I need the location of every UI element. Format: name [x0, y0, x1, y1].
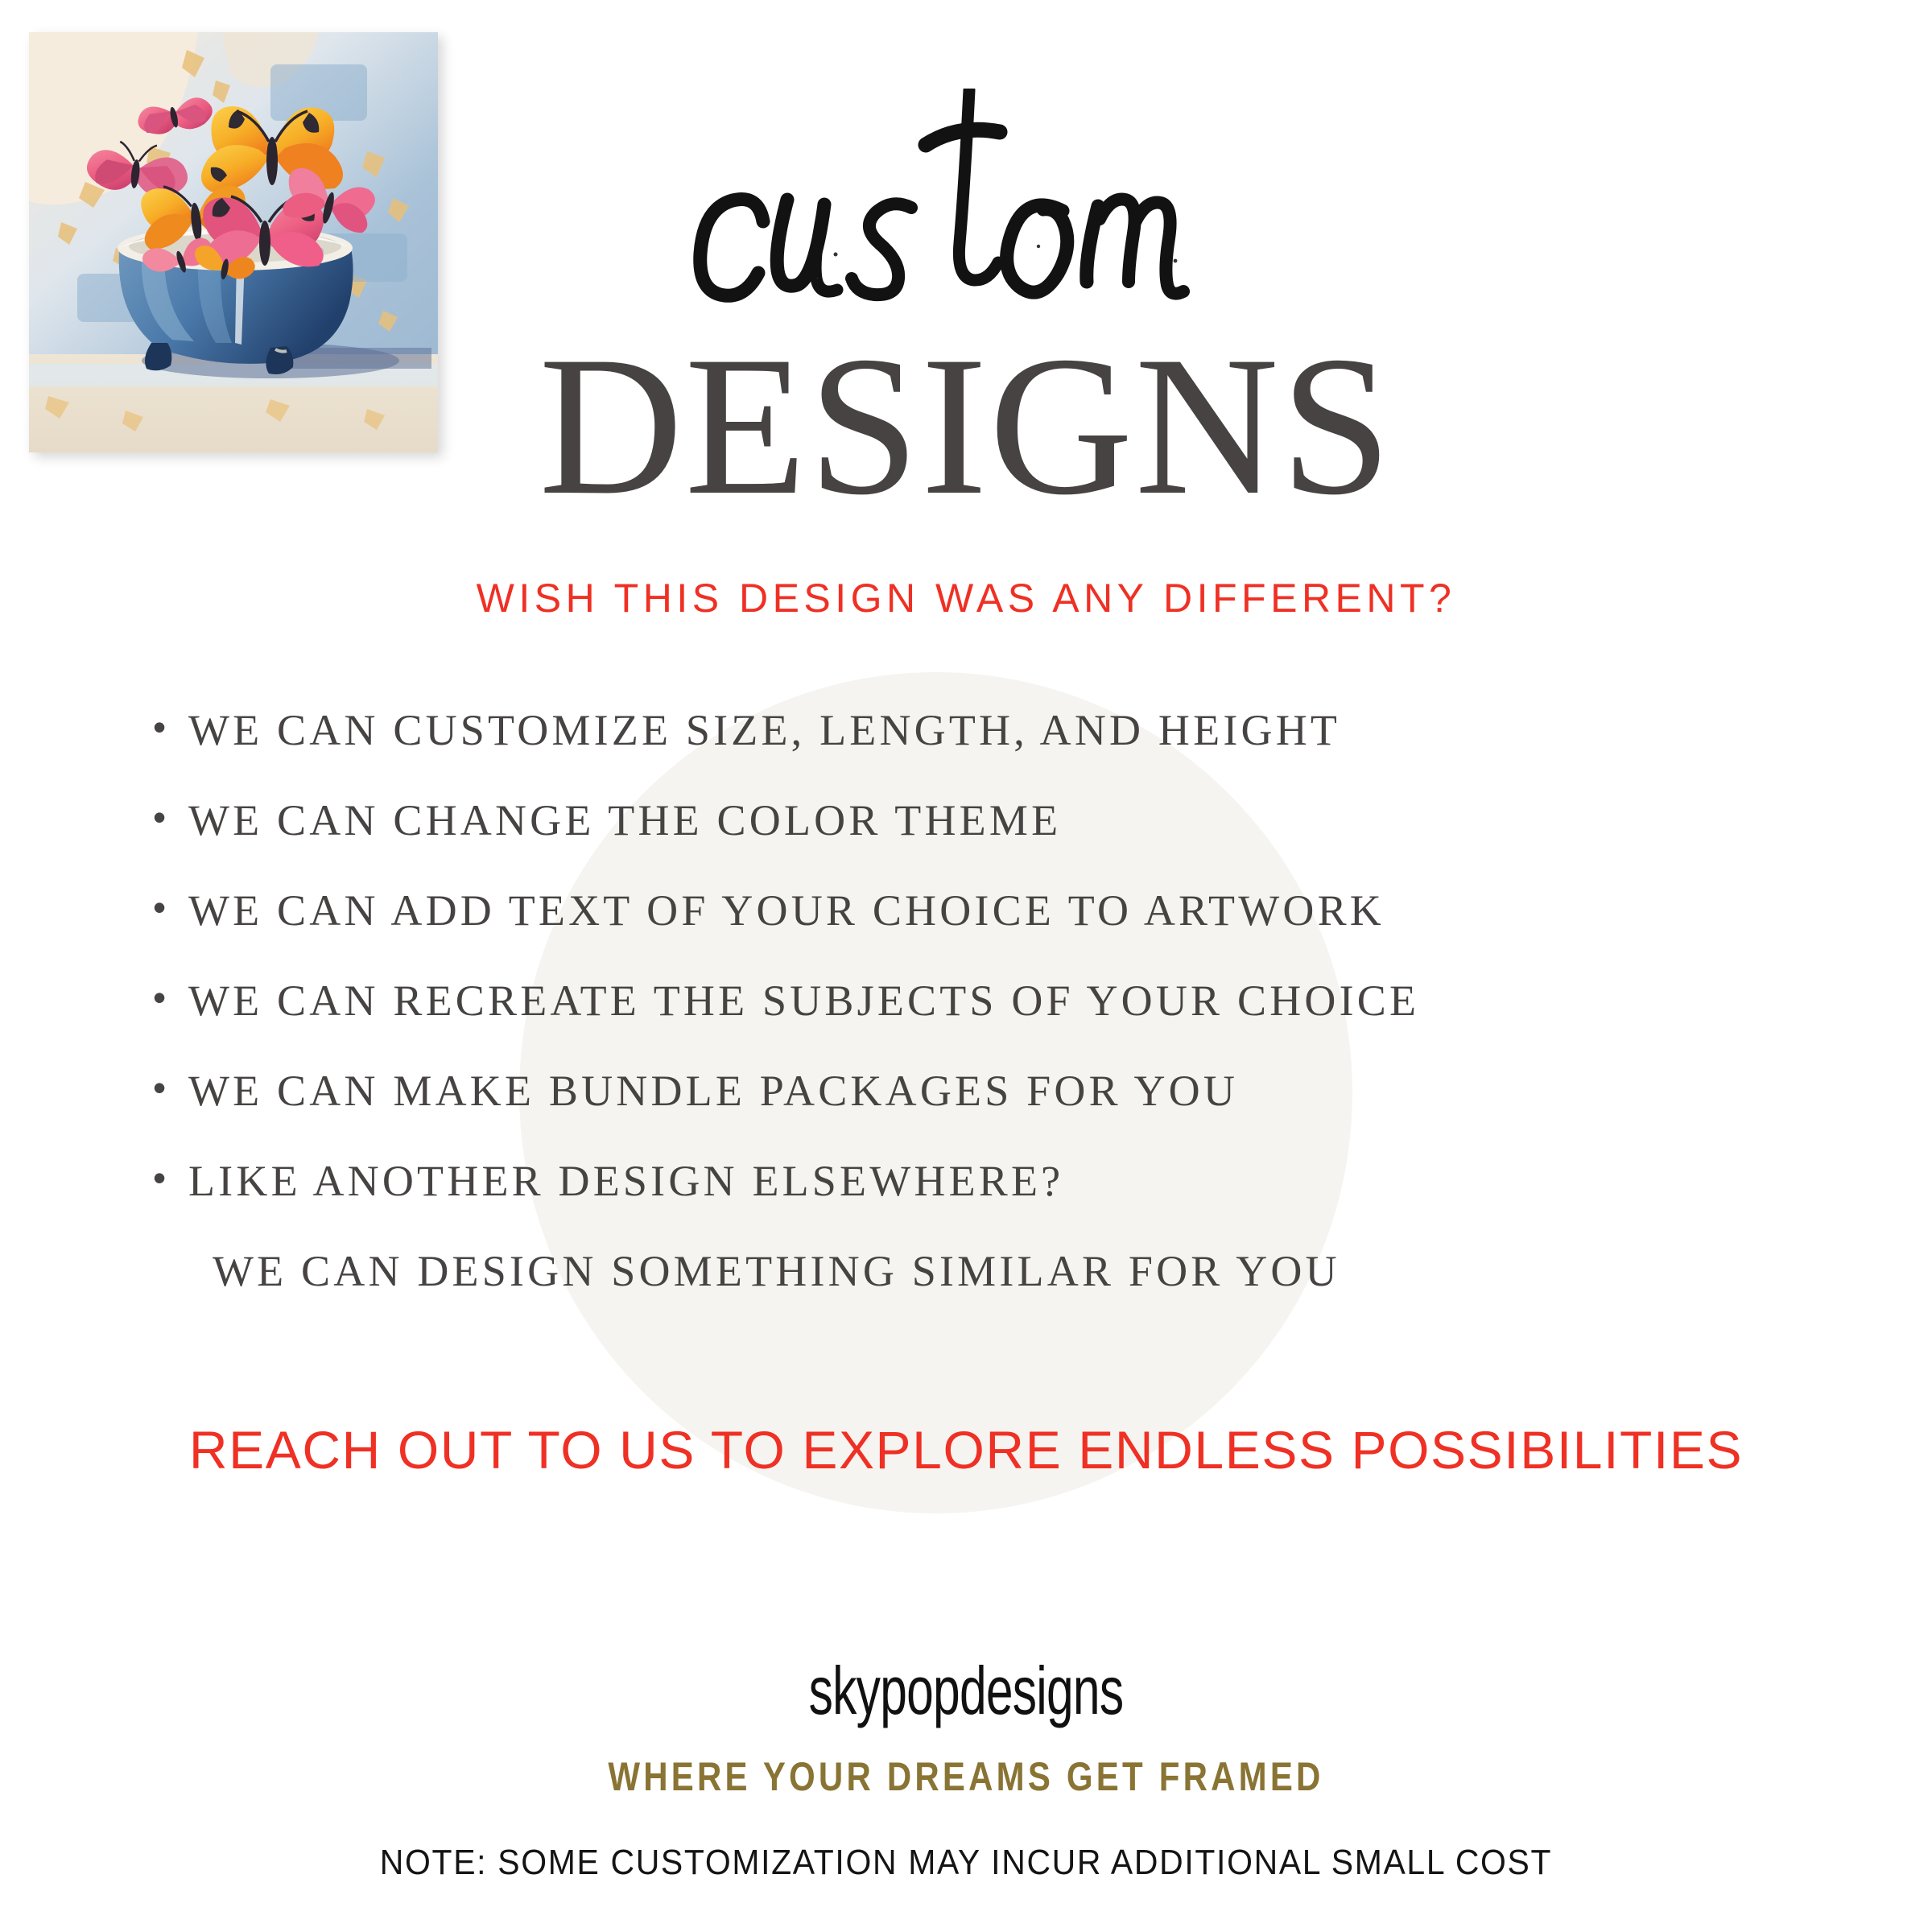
footnote-disclaimer: NOTE: SOME CUSTOMIZATION MAY INCUR ADDIT…	[68, 1845, 1864, 1880]
page-title: DESIGNS	[0, 326, 1932, 526]
subheadline: WISH THIS DESIGN WAS ANY DIFFERENT?	[0, 578, 1932, 618]
script-title-custom	[0, 89, 1932, 322]
list-item-label: LIKE ANOTHER DESIGN ELSEWHERE?	[188, 1159, 1063, 1203]
list-item: • WE CAN RECREATE THE SUBJECTS OF YOUR C…	[153, 979, 1803, 1069]
list-item: • WE CAN MAKE BUNDLE PACKAGES FOR YOU	[153, 1069, 1803, 1159]
bullet-dot-icon: •	[153, 799, 188, 836]
custom-script-lettering	[660, 89, 1272, 322]
bullet-dot-icon: •	[153, 1069, 188, 1106]
bullet-dot-icon: •	[153, 1159, 188, 1196]
call-to-action-text: REACH OUT TO US TO EXPLORE ENDLESS POSSI…	[0, 1423, 1932, 1476]
bullet-dot-icon: •	[153, 889, 188, 926]
bullet-dot-icon: •	[153, 979, 188, 1016]
list-item-label: WE CAN DESIGN SOMETHING SIMILAR FOR YOU	[213, 1249, 1340, 1293]
list-item-continuation: • WE CAN DESIGN SOMETHING SIMILAR FOR YO…	[153, 1249, 1803, 1340]
benefits-list: • WE CAN CUSTOMIZE SIZE, LENGTH, AND HEI…	[153, 708, 1803, 1340]
bullet-dot-icon: •	[153, 708, 188, 745]
list-item-label: WE CAN CHANGE THE COLOR THEME	[188, 799, 1061, 842]
brand-logo-text: skypopdesigns	[270, 1657, 1662, 1724]
list-item-label: WE CAN MAKE BUNDLE PACKAGES FOR YOU	[188, 1069, 1238, 1113]
list-item: • WE CAN ADD TEXT OF YOUR CHOICE TO ARTW…	[153, 889, 1803, 979]
list-item: • WE CAN CUSTOMIZE SIZE, LENGTH, AND HEI…	[153, 708, 1803, 799]
list-item-label: WE CAN CUSTOMIZE SIZE, LENGTH, AND HEIGH…	[188, 708, 1340, 752]
list-item: • LIKE ANOTHER DESIGN ELSEWHERE?	[153, 1159, 1803, 1249]
list-item-label: WE CAN RECREATE THE SUBJECTS OF YOUR CHO…	[188, 979, 1419, 1022]
list-item: • WE CAN CHANGE THE COLOR THEME	[153, 799, 1803, 889]
brand-tagline: WHERE YOUR DREAMS GET FRAMED	[155, 1757, 1777, 1797]
list-item-label: WE CAN ADD TEXT OF YOUR CHOICE TO ARTWOR…	[188, 889, 1385, 932]
